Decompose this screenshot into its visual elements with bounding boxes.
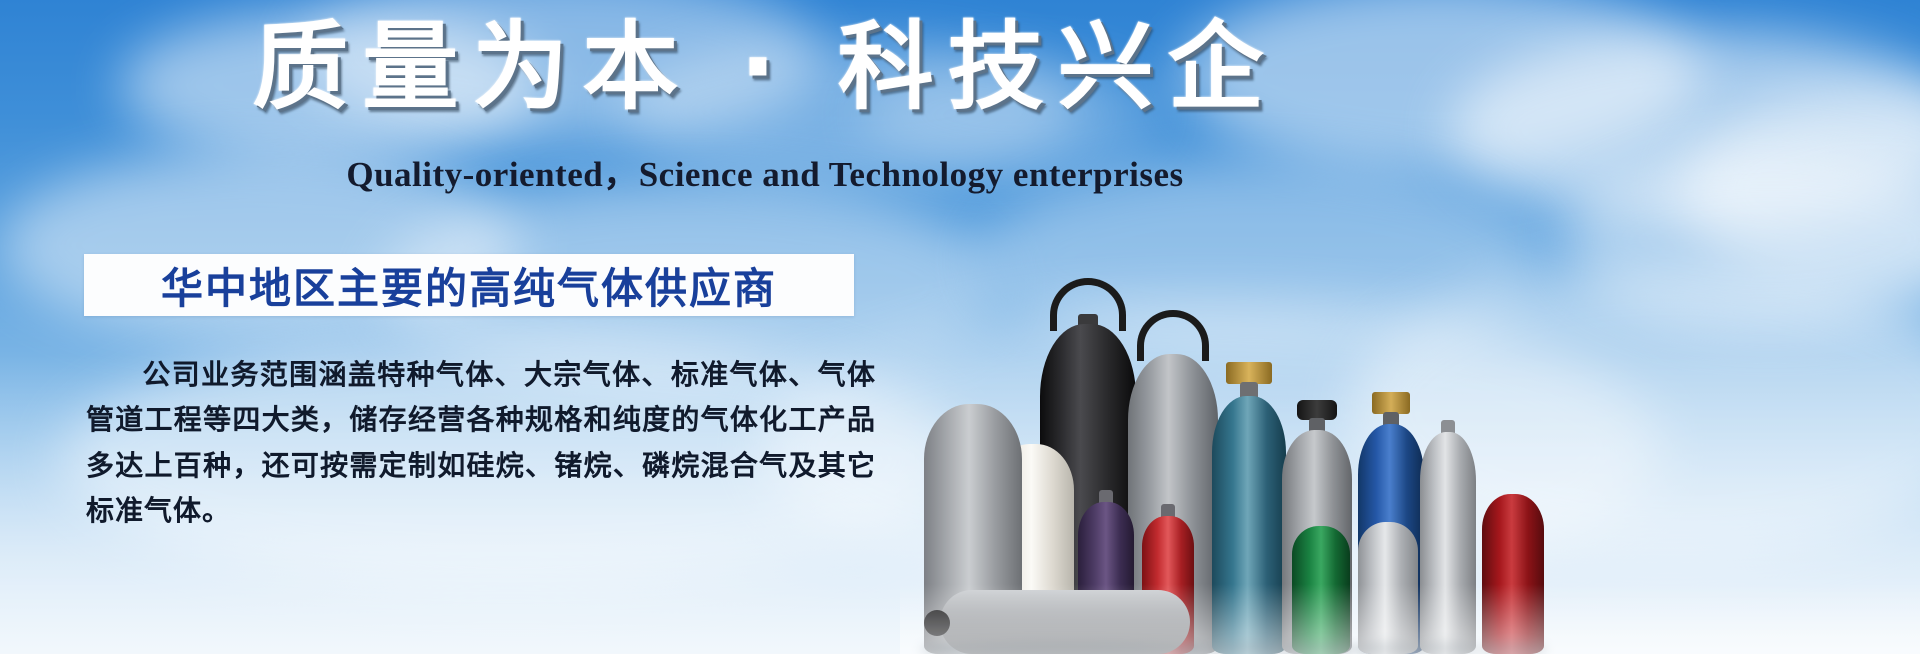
- highlight-box: 华中地区主要的高纯气体供应商: [84, 254, 854, 316]
- cloud-shape: [1680, 90, 1920, 290]
- cloud-shape: [1560, 150, 1920, 330]
- cylinder-valve: [1297, 400, 1337, 420]
- headline-text: 质量为本 · 科技兴企: [0, 14, 1530, 122]
- promo-banner: 质量为本 · 科技兴企 Quality-oriented，Science and…: [0, 0, 1920, 654]
- gas-cylinder-group: [930, 150, 1530, 654]
- ground-haze: [900, 584, 1920, 654]
- cylinder-valve: [1226, 362, 1272, 384]
- highlight-box-text: 华中地区主要的高纯气体供应商: [161, 255, 777, 316]
- paragraph-text: 公司业务范围涵盖特种气体、大宗气体、标准气体、气体管道工程等四大类，储存经营各种…: [86, 358, 876, 527]
- cylinder-valve: [1372, 392, 1410, 414]
- description-paragraph: 公司业务范围涵盖特种气体、大宗气体、标准气体、气体管道工程等四大类，储存经营各种…: [86, 352, 876, 533]
- headline-block: 质量为本 · 科技兴企: [0, 14, 1530, 122]
